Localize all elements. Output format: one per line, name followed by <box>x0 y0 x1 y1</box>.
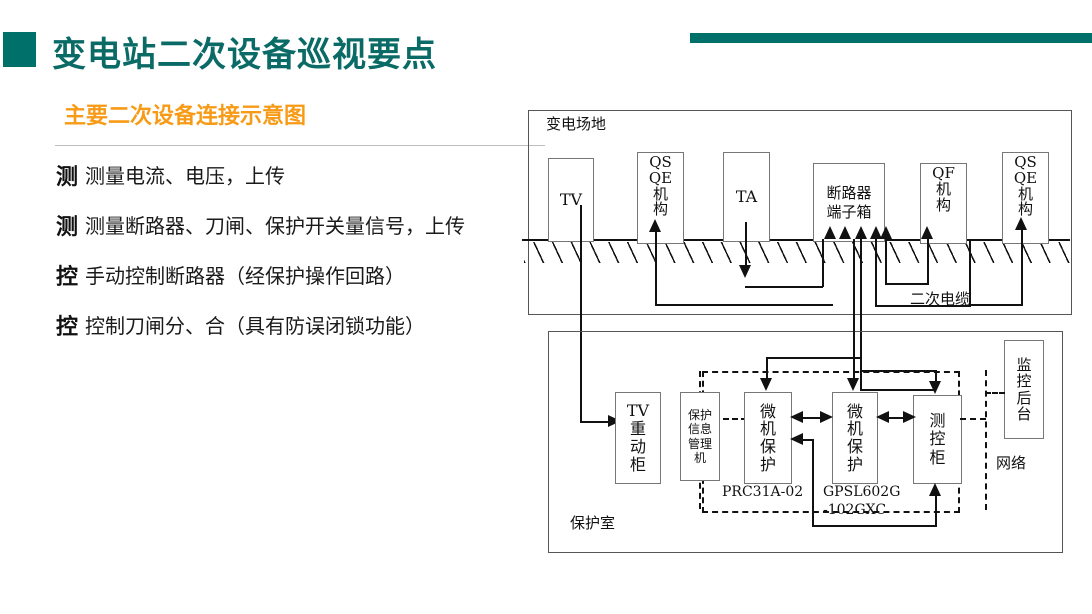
header-divider <box>55 145 545 146</box>
model-prc31a-02: PRC31A-02 <box>722 484 803 500</box>
arrow-feedback-to-mcc <box>929 483 941 496</box>
title-accent-bar <box>690 33 1092 43</box>
wire-breaker-vertical-2 <box>875 239 877 307</box>
arrow-mp2-to-mcc <box>903 411 916 423</box>
device-label: QF 机 构 <box>932 166 955 214</box>
arrow-mp1-to-mp2 <box>820 411 833 423</box>
bullet-list: 测 测量电流、电压，上传 测 测量断路器、刀闸、保护开关量信号，上传 控 手动控… <box>56 163 526 363</box>
substation-yard-box <box>528 110 1072 315</box>
network-label: 网络 <box>996 452 1026 473</box>
arrow-qsqe-right-up <box>1015 217 1027 230</box>
arrow-mp2-to-mp1 <box>790 411 803 423</box>
dashed-link-network-to-backend <box>985 392 1005 394</box>
arrow-breaker-up-1 <box>824 226 836 239</box>
wire-room-top-bus <box>766 357 862 359</box>
device-measure-control-cabinet: 测 控 柜 <box>913 395 962 484</box>
wire-qsqe-right-horizontal <box>969 304 1023 306</box>
device-label: TA <box>736 189 757 205</box>
device-label: 微 机 保 护 <box>760 403 776 473</box>
wire-mp2-feed <box>853 239 855 381</box>
list-item: 控 手动控制断路器（经保护操作回路） <box>56 263 526 292</box>
device-label: 监 控 后 台 <box>1016 357 1031 423</box>
arrow-ta-down <box>739 265 751 278</box>
device-micro-protection-2: 微 机 保 护 <box>832 392 878 484</box>
device-label: QS QE 机 构 <box>1014 155 1037 218</box>
device-label: QS QE 机 构 <box>649 155 672 218</box>
device-label: 断路器 端子箱 <box>826 184 871 222</box>
device-label: TV 重 动 柜 <box>627 402 649 474</box>
wire-qsqe-left-vertical <box>655 228 657 306</box>
arrow-mcc-to-mp2 <box>876 411 889 423</box>
wire-ta-vertical <box>745 222 747 268</box>
bullet-text: 控制刀闸分、合（具有防误闭锁功能） <box>85 313 425 340</box>
arrow-qf-up <box>921 226 933 239</box>
device-label: 微 机 保 护 <box>847 403 863 473</box>
arrow-bus-to-mp2 <box>847 378 859 391</box>
section-subtitle: 主要二次设备连接示意图 <box>64 98 306 130</box>
wire-breaker-horizontal-3 <box>885 283 929 285</box>
list-item: 控 控制刀闸分、合（具有防误闭锁功能） <box>56 313 526 342</box>
device-micro-protection-1: 微 机 保 护 <box>744 392 792 484</box>
list-item: 测 测量电流、电压，上传 <box>56 163 526 192</box>
wire-ta-horizontal <box>745 286 823 288</box>
arrow-feedback-into-mp1 <box>790 433 803 445</box>
arrow-bus-to-mp1 <box>760 378 772 391</box>
wire-qsqe-right-vertical <box>1021 226 1023 306</box>
list-item: 测 测量断路器、刀闸、保护开关量信号，上传 <box>56 213 526 242</box>
bullet-key: 测 <box>56 213 78 242</box>
model-gpsl602g: GPSL602G -102GXC <box>823 484 900 519</box>
wire-room-bus-right <box>860 389 936 391</box>
device-protection-info-mgmt: 保护 信息 管理 机 <box>680 392 720 481</box>
arrow-breaker-up-3 <box>855 226 867 239</box>
secondary-cable-label: 二次电缆 <box>910 288 970 309</box>
network-backbone-dashed <box>985 370 987 510</box>
bullet-key: 测 <box>56 163 78 192</box>
wire-ta-riser <box>822 239 824 287</box>
title-accent-marker <box>3 32 36 67</box>
bullet-text: 手动控制断路器（经保护操作回路） <box>85 263 405 290</box>
wire-qsqe-left-horizontal <box>655 304 833 306</box>
page-title: 变电站二次设备巡视要点 <box>52 27 437 76</box>
wire-mcc-feedback-horizontal <box>812 525 937 527</box>
bullet-key: 控 <box>56 263 78 292</box>
device-label: 保护 信息 管理 机 <box>688 408 712 465</box>
wire-feedback-riser <box>812 439 814 527</box>
device-label: 测 控 柜 <box>929 412 945 467</box>
bullet-text: 测量电流、电压，上传 <box>85 163 285 190</box>
wire-breaker-vertical-3 <box>885 239 887 285</box>
yard-title: 变电场地 <box>546 113 606 134</box>
arrow-to-mcc <box>929 381 941 394</box>
arrow-qsqe-left-up <box>649 219 661 232</box>
bullet-key: 控 <box>56 313 78 342</box>
device-tv: TV <box>548 158 594 242</box>
device-qs-qe-right: QS QE 机 构 <box>1002 152 1049 244</box>
arrow-breaker-up-2 <box>839 226 851 239</box>
device-tv-repeat-cabinet: TV 重 动 柜 <box>615 392 661 484</box>
protection-room-title: 保护室 <box>570 512 615 533</box>
device-monitor-backend: 监 控 后 台 <box>1004 340 1044 439</box>
device-label: TV <box>560 192 582 208</box>
ground-hatching <box>524 242 1070 263</box>
dashed-link-mcc-to-network <box>960 418 986 420</box>
wire-breaker-to-mcc <box>860 370 936 372</box>
wire-mcc-feedback-vertical <box>935 495 937 527</box>
arrow-breaker-up-5 <box>880 226 892 239</box>
bullet-text: 测量断路器、刀闸、保护开关量信号，上传 <box>85 213 465 240</box>
wire-qf-riser <box>927 239 929 285</box>
